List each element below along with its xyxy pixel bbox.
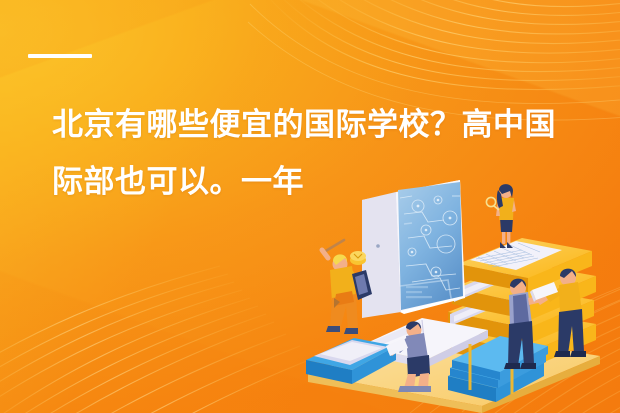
tablet-device: [362, 180, 465, 318]
hero-illustration: [300, 178, 620, 413]
accent-bar: [28, 54, 92, 58]
figure-woman-on-top: [486, 184, 516, 248]
coin-stack: [350, 251, 366, 265]
promo-banner: 北京有哪些便宜的国际学校？高中国际部也可以。一年: [0, 0, 620, 413]
